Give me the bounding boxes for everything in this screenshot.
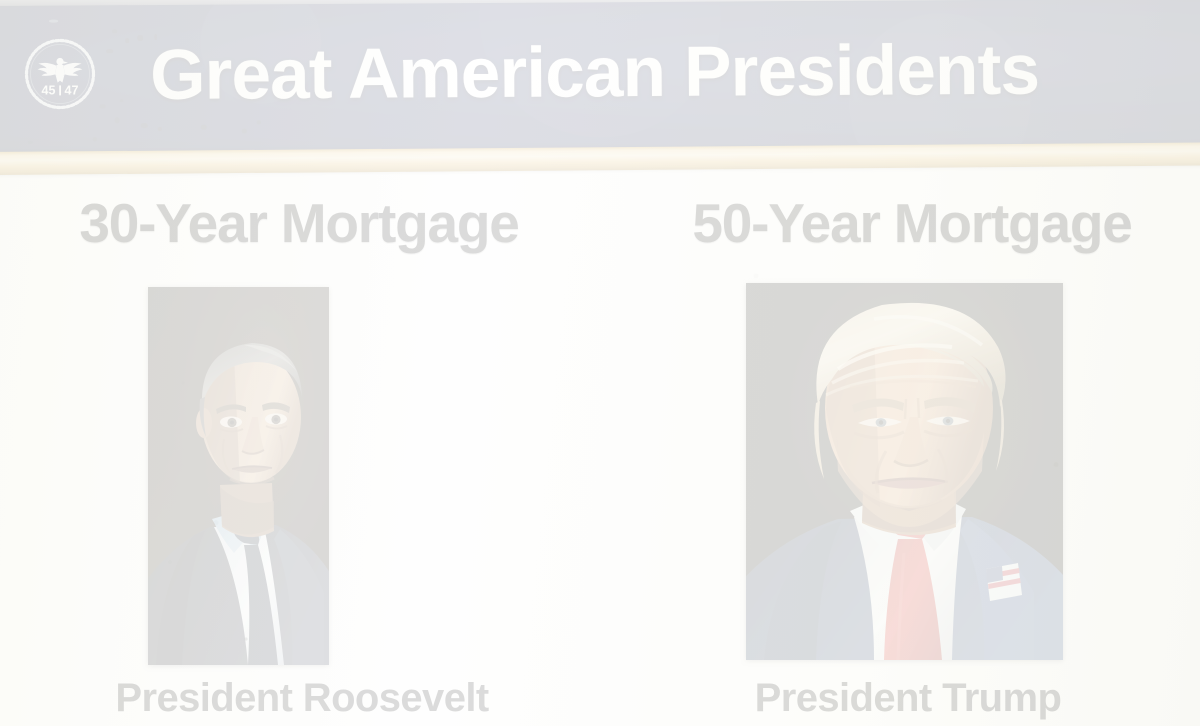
ink-speckle — [115, 117, 120, 123]
presidential-eagle-seal-icon: 45 47 — [23, 37, 97, 111]
ink-speckle — [112, 29, 117, 33]
american-flag-lapel-pin — [986, 563, 1022, 601]
ink-speckle — [100, 104, 106, 108]
heading-50-year-mortgage: 50-Year Mortgage — [612, 192, 1200, 254]
seal-left-number: 45 — [42, 84, 56, 98]
ink-speckle — [201, 125, 207, 130]
caption-president-trump: President Trump — [608, 675, 1200, 721]
president-roosevelt-portrait — [148, 287, 329, 665]
seal-right-number: 47 — [65, 84, 79, 98]
ink-speckle — [257, 120, 261, 124]
president-trump-portrait — [746, 283, 1063, 660]
ink-speckle — [120, 99, 124, 102]
column-30-year-mortgage: 30-Year Mortgage — [0, 178, 600, 726]
ink-speckle — [158, 127, 162, 131]
ink-speckle — [106, 49, 113, 53]
caption-president-roosevelt: President Roosevelt — [2, 675, 602, 721]
column-50-year-mortgage: 50-Year Mortgage — [600, 178, 1200, 726]
seal-separator — [59, 85, 61, 95]
comparison-columns: 30-Year Mortgage — [0, 178, 1200, 726]
heading-30-year-mortgage: 30-Year Mortgage — [0, 192, 599, 254]
ink-speckle — [93, 137, 97, 141]
ink-speckle — [137, 35, 143, 41]
ink-speckle — [242, 128, 247, 133]
ink-speckle — [49, 20, 58, 23]
ink-speckle — [141, 123, 148, 128]
great-american-presidents-poster: 45 47 Great American Presidents 30-Year … — [0, 0, 1200, 726]
ink-speckle — [28, 141, 33, 144]
page-title: Great American Presidents — [150, 33, 1190, 113]
ink-speckle — [125, 38, 129, 43]
